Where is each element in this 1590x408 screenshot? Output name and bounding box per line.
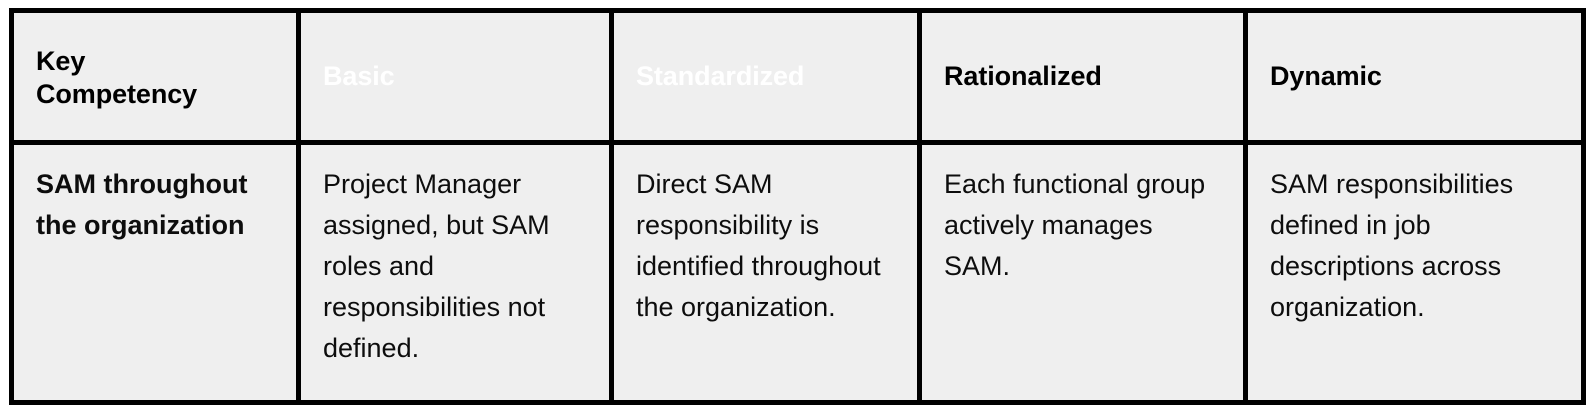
key-competency-line2: Competency [36, 79, 197, 109]
column-header-dynamic: Dynamic [1246, 11, 1584, 143]
column-header-key-competency-label: KeyCompetency [14, 43, 296, 111]
cell-basic-text: Project Manager assigned, but SAM roles … [301, 145, 609, 369]
column-header-basic: Basic [299, 11, 612, 143]
column-header-key-competency: KeyCompetency [12, 11, 299, 143]
column-header-standardized-label: Standardized [614, 60, 917, 93]
cell-key-competency: SAM throughout the organization [12, 143, 299, 403]
cell-rationalized-text: Each functional group actively manages S… [922, 145, 1243, 287]
cell-dynamic-text: SAM responsibilities defined in job desc… [1248, 145, 1581, 328]
column-header-rationalized: Rationalized [920, 11, 1246, 143]
table-header-row: KeyCompetency Basic Standardized Rationa… [12, 11, 1584, 143]
key-competency-line1: Key [36, 46, 85, 76]
sam-maturity-table: KeyCompetency Basic Standardized Rationa… [9, 8, 1586, 405]
column-header-standardized: Standardized [612, 11, 920, 143]
cell-dynamic: SAM responsibilities defined in job desc… [1246, 143, 1584, 403]
cell-standardized: Direct SAM responsibility is identified … [612, 143, 920, 403]
cell-standardized-text: Direct SAM responsibility is identified … [614, 145, 917, 328]
column-header-dynamic-label: Dynamic [1248, 60, 1581, 93]
column-header-basic-label: Basic [301, 60, 609, 93]
cell-rationalized: Each functional group actively manages S… [920, 143, 1246, 403]
column-header-rationalized-label: Rationalized [922, 60, 1243, 93]
cell-basic: Project Manager assigned, but SAM roles … [299, 143, 612, 403]
row-label-sam-throughout-the-organization: SAM throughout the organization [14, 145, 296, 245]
sam-maturity-table-container: KeyCompetency Basic Standardized Rationa… [9, 8, 1581, 395]
table-row: SAM throughout the organization Project … [12, 143, 1584, 403]
